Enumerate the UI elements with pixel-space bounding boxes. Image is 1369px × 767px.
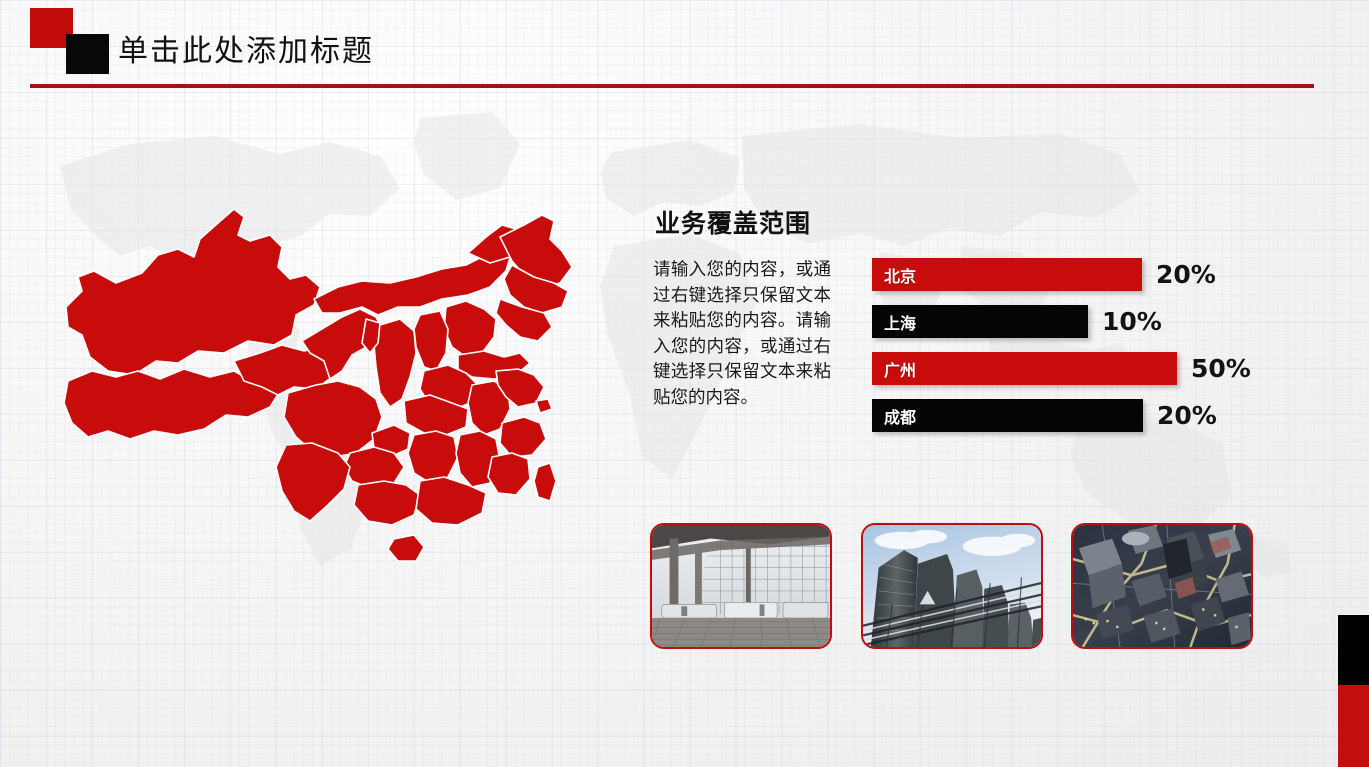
bar-category-label: 北京 xyxy=(884,263,916,287)
bar-category-label: 广州 xyxy=(884,357,916,381)
header-divider xyxy=(30,84,1314,88)
body-paragraph: 请输入您的内容，或通过右键选择只保留文本来粘贴您的内容。请输入您的内容，或通过右… xyxy=(653,258,831,411)
bar-row: 广州50% xyxy=(872,352,1292,385)
train-station-photo[interactable] xyxy=(650,523,832,649)
bar-成都: 成都 xyxy=(872,399,1143,432)
skyscraper-photo[interactable] xyxy=(861,523,1043,649)
bar-广州: 广州 xyxy=(872,352,1177,385)
bar-上海: 上海 xyxy=(872,305,1088,338)
bar-北京: 北京 xyxy=(872,258,1142,291)
coverage-bar-chart: 北京20%上海10%广州50%成都20% xyxy=(872,258,1292,448)
edge-marker-red xyxy=(1338,685,1369,767)
aerial-city-photo[interactable] xyxy=(1071,523,1253,649)
page-title: 单击此处添加标题 xyxy=(118,28,374,76)
bar-value-label: 10% xyxy=(1102,307,1162,336)
bar-row: 上海10% xyxy=(872,305,1292,338)
bar-value-label: 20% xyxy=(1156,260,1216,289)
bar-value-label: 50% xyxy=(1191,354,1251,383)
edge-marker-black xyxy=(1338,615,1369,685)
section-title: 业务覆盖范围 xyxy=(655,204,811,240)
bar-category-label: 上海 xyxy=(884,310,916,334)
slide-header: 单击此处添加标题 xyxy=(0,0,1369,95)
header-black-square xyxy=(66,34,109,74)
china-map[interactable] xyxy=(38,195,628,625)
bar-category-label: 成都 xyxy=(884,404,916,428)
bar-row: 成都20% xyxy=(872,399,1292,432)
bar-value-label: 20% xyxy=(1157,401,1217,430)
slide-canvas: 单击此处添加标题 xyxy=(0,0,1369,767)
bar-row: 北京20% xyxy=(872,258,1292,291)
photo-strip xyxy=(650,523,1270,649)
